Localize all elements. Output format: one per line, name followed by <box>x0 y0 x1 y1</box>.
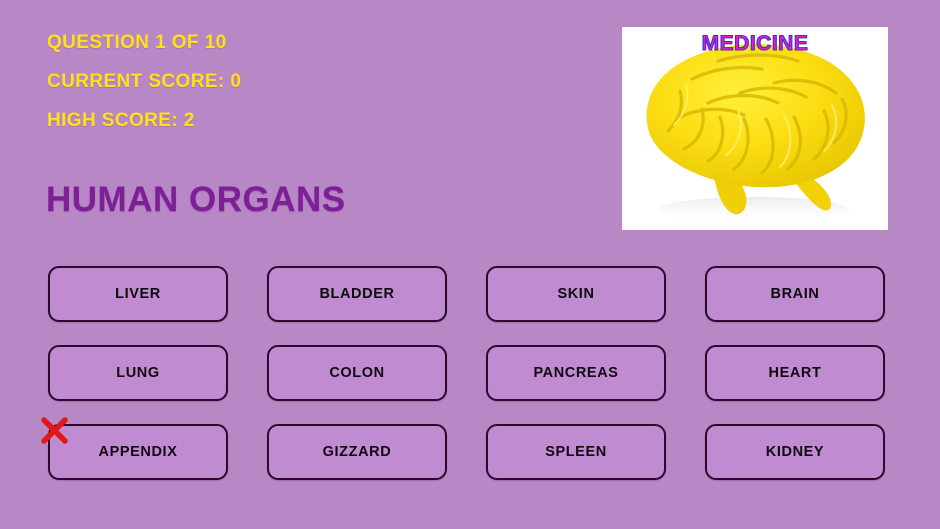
answer-label: HEART <box>769 365 822 381</box>
answer-button-bladder[interactable]: BLADDER <box>267 266 447 322</box>
medicine-caption: MEDICINE <box>622 32 888 56</box>
answer-button-pancreas[interactable]: PANCREAS <box>486 345 666 401</box>
answer-label: BRAIN <box>771 286 820 302</box>
answer-button-brain[interactable]: BRAIN <box>705 266 885 322</box>
current-score: CURRENT SCORE: 0 <box>47 72 567 91</box>
answer-button-liver[interactable]: LIVER <box>48 266 228 322</box>
answer-options-grid: LIVER BLADDER SKIN BRAIN LUNG COLON PANC… <box>48 266 888 480</box>
answer-button-colon[interactable]: COLON <box>267 345 447 401</box>
answer-label: SPLEEN <box>545 444 607 460</box>
quiz-screen: QUESTION 1 OF 10 CURRENT SCORE: 0 HIGH S… <box>0 0 940 529</box>
answer-label: LIVER <box>115 286 161 302</box>
answer-button-appendix[interactable]: APPENDIX <box>48 424 228 480</box>
answer-label: COLON <box>329 365 384 381</box>
score-panel: QUESTION 1 OF 10 CURRENT SCORE: 0 HIGH S… <box>47 33 567 150</box>
answer-label: APPENDIX <box>99 444 178 460</box>
answer-label: SKIN <box>557 286 594 302</box>
answer-button-gizzard[interactable]: GIZZARD <box>267 424 447 480</box>
answer-label: KIDNEY <box>766 444 824 460</box>
answer-button-kidney[interactable]: KIDNEY <box>705 424 885 480</box>
answer-label: LUNG <box>116 365 159 381</box>
answer-button-heart[interactable]: HEART <box>705 345 885 401</box>
answer-button-spleen[interactable]: SPLEEN <box>486 424 666 480</box>
answer-label: GIZZARD <box>323 444 392 460</box>
category-title: HUMAN ORGANS <box>46 182 346 217</box>
answer-label: BLADDER <box>319 286 394 302</box>
high-score: HIGH SCORE: 2 <box>47 111 567 130</box>
question-counter: QUESTION 1 OF 10 <box>47 33 567 52</box>
answer-label: PANCREAS <box>533 365 618 381</box>
question-image-card: MEDICINE <box>622 27 888 230</box>
answer-button-lung[interactable]: LUNG <box>48 345 228 401</box>
answer-button-skin[interactable]: SKIN <box>486 266 666 322</box>
brain-image <box>622 27 888 230</box>
